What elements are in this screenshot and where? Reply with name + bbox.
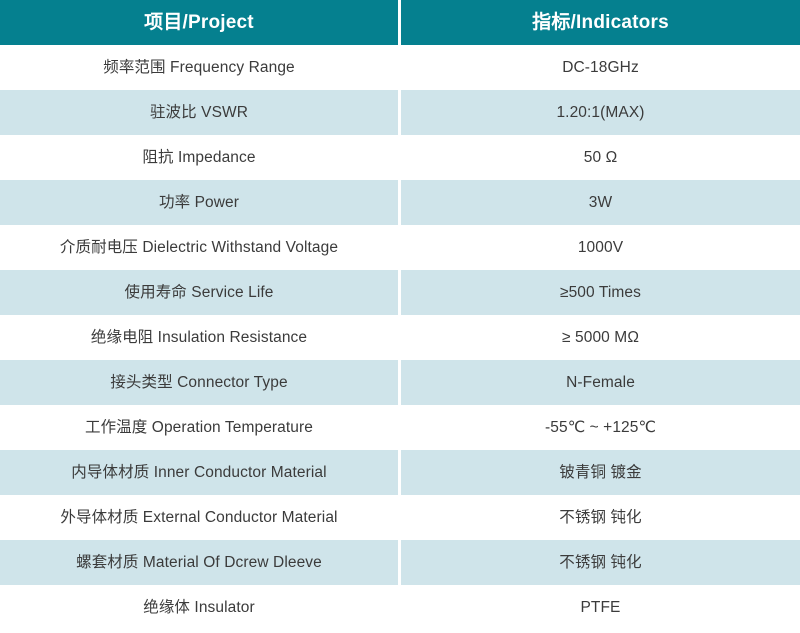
table-header-row: 项目/Project 指标/Indicators: [0, 0, 800, 45]
cell-project: 介质耐电压 Dielectric Withstand Voltage: [0, 225, 398, 270]
cell-indicator: PTFE: [401, 585, 800, 630]
cell-indicator: N-Female: [401, 360, 800, 405]
table-row: 介质耐电压 Dielectric Withstand Voltage1000V: [0, 225, 800, 270]
cell-indicator: ≥ 5000 MΩ: [401, 315, 800, 360]
table-row: 阻抗 Impedance50 Ω: [0, 135, 800, 180]
table-row: 内导体材质 Inner Conductor Material铍青铜 镀金: [0, 450, 800, 495]
column-header-project: 项目/Project: [0, 0, 398, 45]
table-header: 项目/Project 指标/Indicators: [0, 0, 800, 45]
cell-indicator: DC-18GHz: [401, 45, 800, 90]
cell-indicator: -55℃ ~ +125℃: [401, 405, 800, 450]
cell-project: 外导体材质 External Conductor Material: [0, 495, 398, 540]
cell-project: 功率 Power: [0, 180, 398, 225]
specification-table: 项目/Project 指标/Indicators 频率范围 Frequency …: [0, 0, 800, 630]
cell-project: 使用寿命 Service Life: [0, 270, 398, 315]
cell-project: 绝缘电阻 Insulation Resistance: [0, 315, 398, 360]
cell-indicator: 不锈钢 钝化: [401, 540, 800, 585]
table-row: 频率范围 Frequency RangeDC-18GHz: [0, 45, 800, 90]
table-row: 接头类型 Connector TypeN-Female: [0, 360, 800, 405]
cell-project: 频率范围 Frequency Range: [0, 45, 398, 90]
table-body: 频率范围 Frequency RangeDC-18GHz驻波比 VSWR1.20…: [0, 45, 800, 630]
column-header-indicators: 指标/Indicators: [401, 0, 800, 45]
cell-indicator: 1000V: [401, 225, 800, 270]
cell-project: 驻波比 VSWR: [0, 90, 398, 135]
cell-project: 工作温度 Operation Temperature: [0, 405, 398, 450]
cell-indicator: 1.20:1(MAX): [401, 90, 800, 135]
cell-project: 螺套材质 Material Of Dcrew Dleeve: [0, 540, 398, 585]
cell-project: 接头类型 Connector Type: [0, 360, 398, 405]
table-row: 螺套材质 Material Of Dcrew Dleeve不锈钢 钝化: [0, 540, 800, 585]
table-row: 绝缘电阻 Insulation Resistance≥ 5000 MΩ: [0, 315, 800, 360]
table-row: 外导体材质 External Conductor Material不锈钢 钝化: [0, 495, 800, 540]
table-row: 工作温度 Operation Temperature-55℃ ~ +125℃: [0, 405, 800, 450]
cell-indicator: 铍青铜 镀金: [401, 450, 800, 495]
cell-indicator: 50 Ω: [401, 135, 800, 180]
cell-indicator: 不锈钢 钝化: [401, 495, 800, 540]
table-row: 绝缘体 InsulatorPTFE: [0, 585, 800, 630]
table-row: 功率 Power3W: [0, 180, 800, 225]
cell-project: 绝缘体 Insulator: [0, 585, 398, 630]
cell-project: 内导体材质 Inner Conductor Material: [0, 450, 398, 495]
table-row: 驻波比 VSWR1.20:1(MAX): [0, 90, 800, 135]
table-row: 使用寿命 Service Life≥500 Times: [0, 270, 800, 315]
cell-indicator: 3W: [401, 180, 800, 225]
cell-project: 阻抗 Impedance: [0, 135, 398, 180]
cell-indicator: ≥500 Times: [401, 270, 800, 315]
